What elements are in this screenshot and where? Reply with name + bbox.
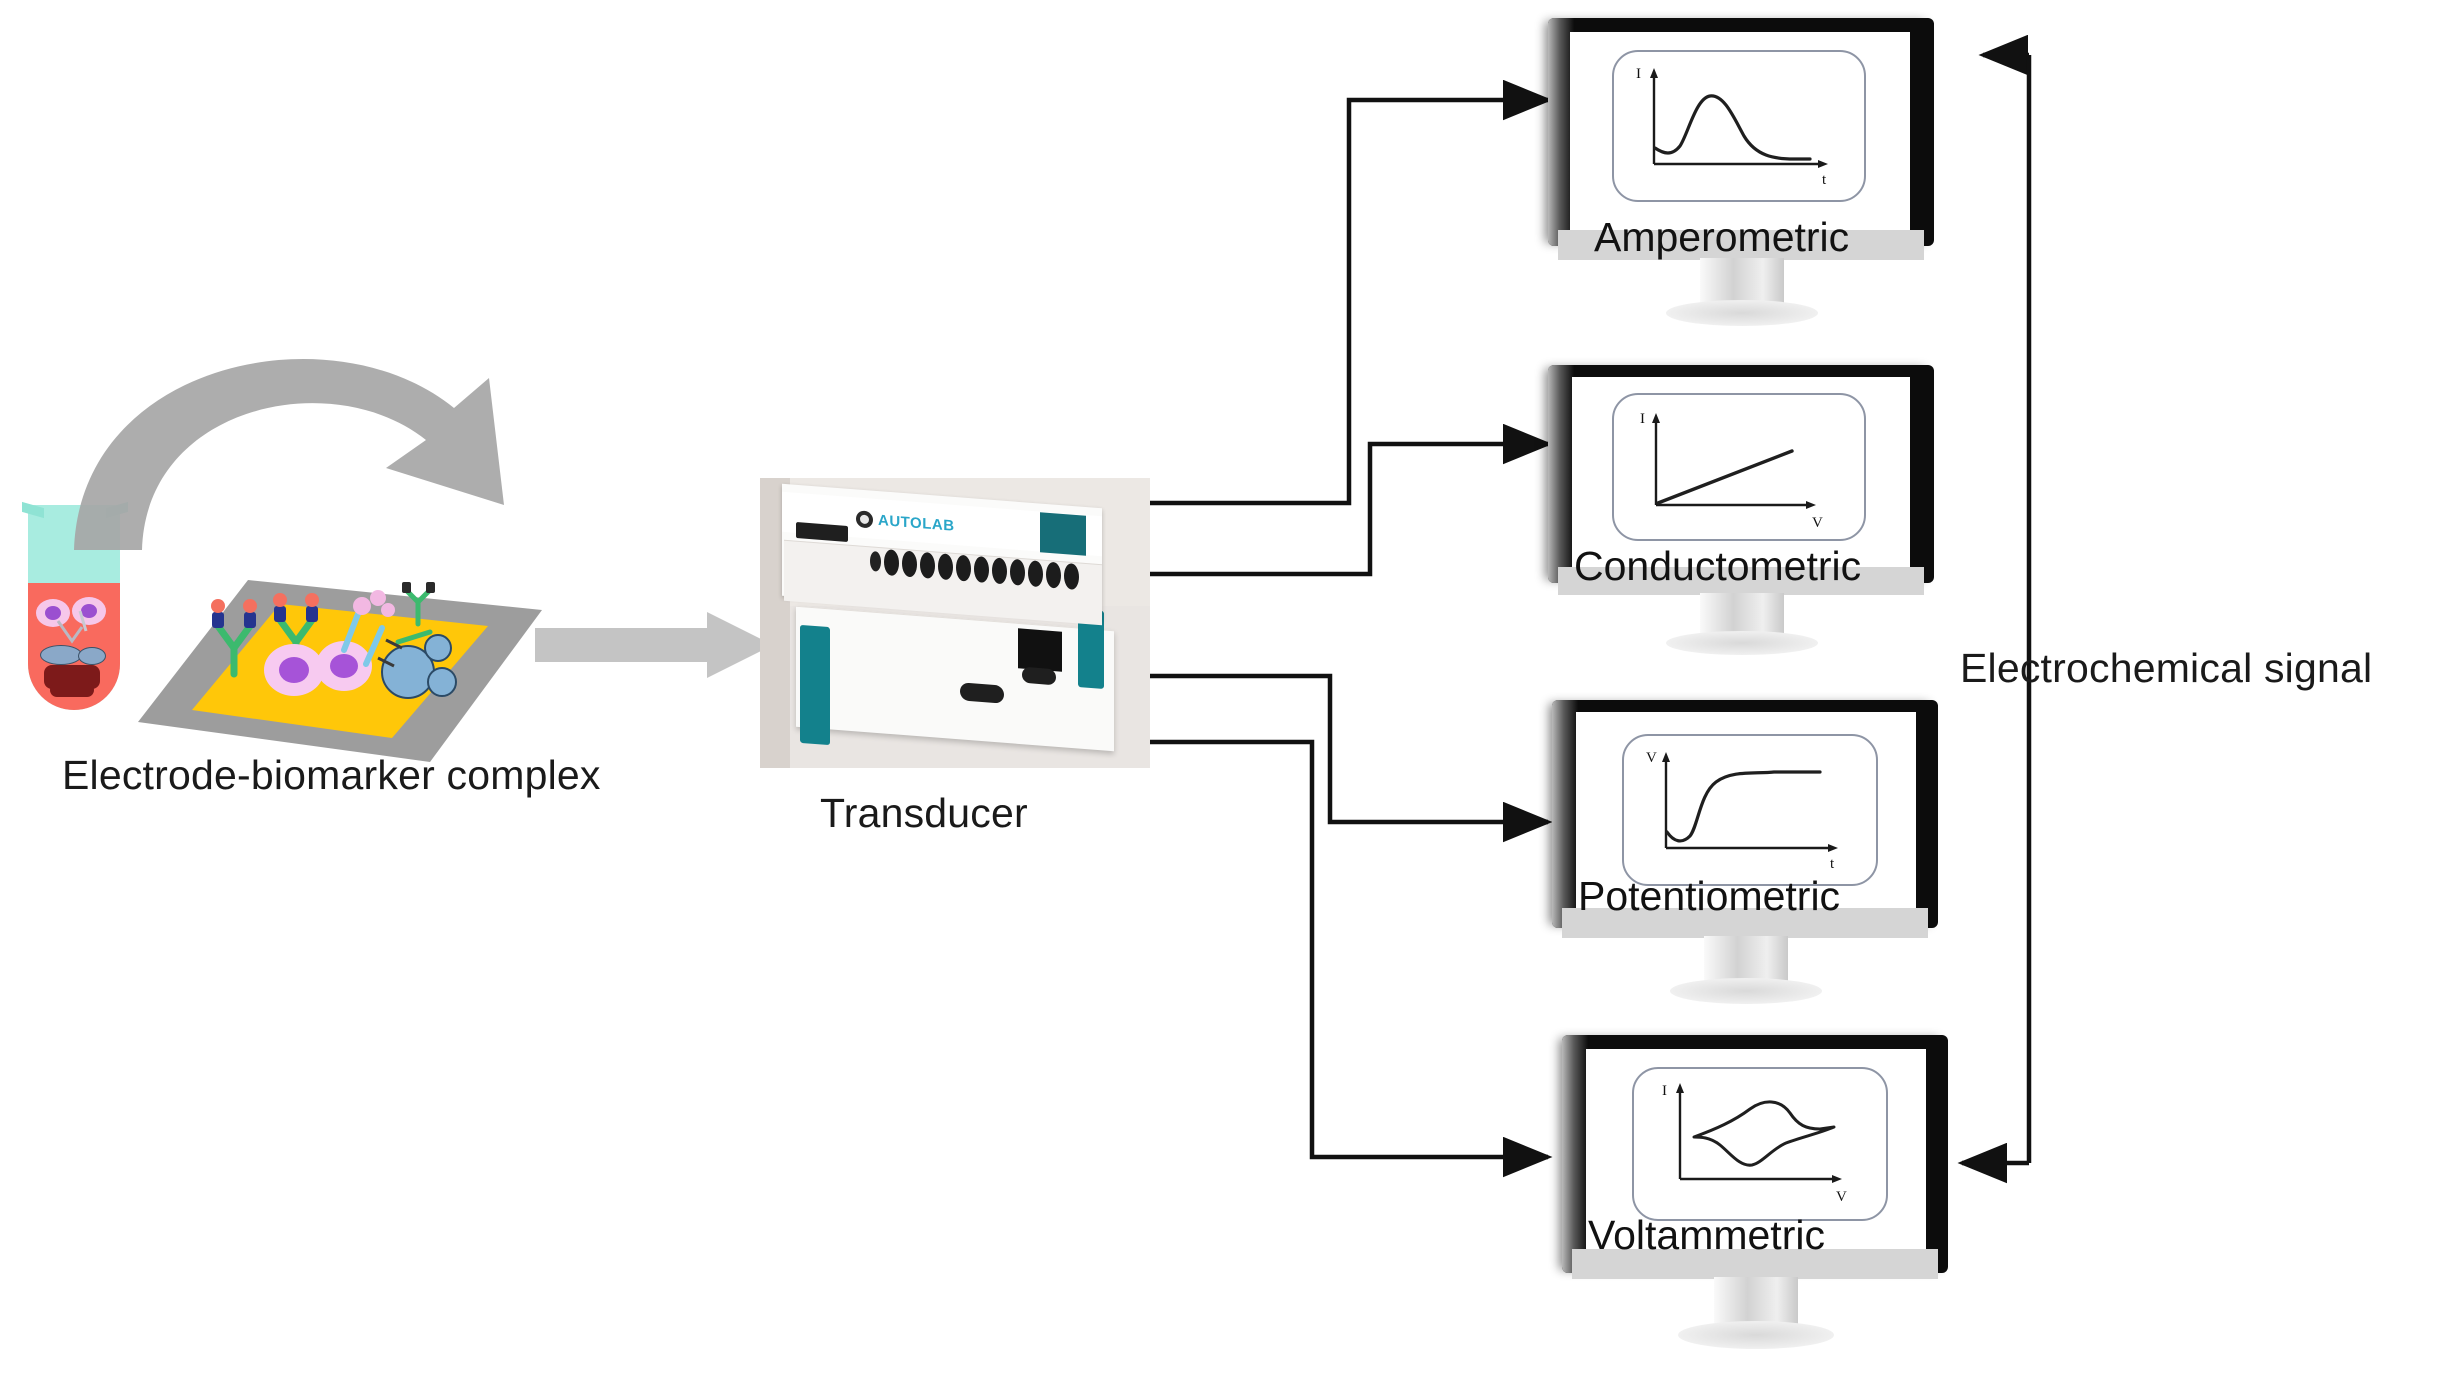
line-to-voltammetric xyxy=(1150,742,1548,1157)
monitor-label-conductometric: Conductometric xyxy=(1574,543,1861,590)
figure-canvas: Electrode-biomarker complex AUTOLAB xyxy=(0,0,2443,1377)
monitor-amperometric: I t xyxy=(1548,18,1934,246)
voltammetric-x-axis-label: V xyxy=(1836,1189,1847,1205)
monitor-label-amperometric: Amperometric xyxy=(1594,214,1849,261)
potentiometric-x-axis-label: t xyxy=(1830,856,1835,872)
electrochemical-signal-label: Electrochemical signal xyxy=(1960,645,2372,692)
monitor-label-potentiometric: Potentiometric xyxy=(1578,873,1840,920)
potentiometric-plot: V t xyxy=(1624,736,1876,884)
line-to-potentiometric xyxy=(1150,676,1548,822)
amperometric-x-axis-label: t xyxy=(1822,172,1827,188)
conductometric-plot: I V xyxy=(1614,395,1864,539)
amperometric-y-axis-label: I xyxy=(1636,66,1641,82)
voltammetric-y-axis-label: I xyxy=(1662,1083,1667,1099)
amperometric-plot: I t xyxy=(1614,52,1864,200)
voltammetric-plot: I V xyxy=(1634,1069,1886,1219)
conductometric-x-axis-label: V xyxy=(1812,515,1823,531)
potentiometric-y-axis-label: V xyxy=(1646,750,1657,766)
monitor-label-voltammetric: Voltammetric xyxy=(1588,1212,1825,1259)
conductometric-y-axis-label: I xyxy=(1640,411,1645,427)
